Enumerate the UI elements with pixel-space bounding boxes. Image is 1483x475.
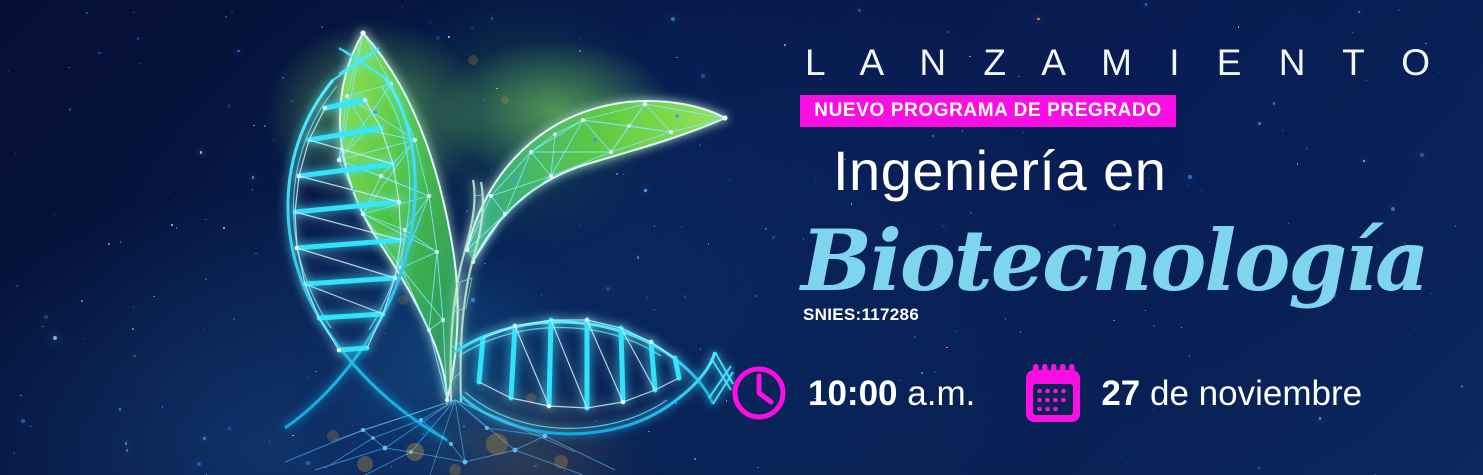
content-column: L A N Z A M I E N T O NUEVO PROGRAMA DE …: [795, 0, 1395, 475]
star-particle: [205, 278, 207, 280]
star-particle: [19, 176, 21, 178]
star-particle: [765, 228, 768, 231]
event-date-day: 27: [1101, 374, 1140, 413]
star-particle: [197, 462, 201, 466]
star-particle: [1461, 385, 1464, 388]
star-particle: [53, 336, 57, 340]
star-particle: [769, 124, 771, 126]
star-particle: [21, 419, 25, 423]
star-particle: [159, 366, 161, 368]
star-particle: [784, 44, 786, 46]
star-particle: [153, 296, 155, 298]
dna-plant-artwork: [215, 0, 735, 475]
program-badge-label: NUEVO PROGRAMA DE PREGRADO: [814, 100, 1161, 122]
star-particle: [139, 63, 141, 65]
star-particle: [163, 199, 165, 201]
eyebrow-lanzamiento: L A N Z A M I E N T O: [805, 44, 1444, 81]
star-particle: [200, 151, 203, 154]
star-particle: [133, 355, 136, 358]
star-particle: [44, 315, 48, 319]
star-particle: [133, 12, 135, 14]
star-particle: [1431, 293, 1433, 295]
star-particle: [126, 449, 129, 452]
star-particle: [69, 108, 72, 111]
star-particle: [755, 295, 757, 297]
star-particle: [203, 437, 206, 440]
calendar-icon: [1023, 362, 1083, 424]
star-particle: [757, 467, 759, 469]
star-particle: [20, 395, 22, 397]
program-badge: NUEVO PROGRAMA DE PREGRADO: [800, 95, 1176, 127]
star-particle: [125, 442, 128, 445]
star-particle: [205, 219, 207, 221]
promo-banner: L A N Z A M I E N T O NUEVO PROGRAMA DE …: [0, 0, 1483, 475]
star-particle: [132, 328, 134, 330]
star-particle: [1455, 225, 1457, 227]
star-particle: [162, 406, 164, 408]
star-particle: [83, 338, 85, 340]
star-particle: [8, 71, 10, 73]
star-particle: [116, 154, 118, 156]
star-particle: [54, 214, 56, 216]
event-time-suffix: a.m.: [907, 374, 975, 413]
star-particle: [13, 452, 15, 454]
star-particle: [16, 285, 18, 287]
star-particle: [119, 408, 122, 411]
star-particle: [81, 300, 83, 302]
star-particle: [169, 192, 171, 194]
clock-icon: [730, 364, 788, 422]
star-particle: [203, 329, 205, 331]
event-time-value: 10:00: [808, 374, 898, 413]
star-particle: [1420, 153, 1424, 157]
star-particle: [171, 224, 173, 226]
event-info-row: 10:00 a.m.: [730, 362, 1362, 424]
program-title-script-text: Biotecnología: [799, 211, 1427, 310]
star-particle: [770, 215, 772, 217]
star-particle: [30, 426, 32, 428]
star-particle: [740, 291, 742, 293]
event-time: 10:00 a.m.: [730, 364, 975, 422]
star-particle: [1453, 50, 1455, 52]
star-particle: [137, 37, 140, 40]
star-particle: [15, 152, 17, 154]
snies-code: SNIES:117286: [803, 305, 919, 325]
star-particle: [1408, 334, 1410, 336]
star-particle: [133, 306, 135, 308]
star-particle: [42, 326, 44, 328]
star-particle: [1398, 9, 1400, 11]
event-date-rest: de noviembre: [1150, 374, 1362, 413]
event-date-text: 27 de noviembre: [1101, 376, 1362, 411]
event-date: 27 de noviembre: [1023, 362, 1362, 424]
star-particle: [176, 227, 178, 229]
star-particle: [108, 243, 110, 245]
star-particle: [98, 52, 101, 55]
star-particle: [68, 67, 70, 69]
event-time-text: 10:00 a.m.: [808, 376, 975, 411]
star-particle: [86, 12, 89, 15]
star-particle: [772, 236, 775, 239]
program-title-line1: Ingeniería en: [833, 142, 1166, 201]
star-particle: [120, 241, 122, 243]
star-particle: [58, 447, 60, 449]
